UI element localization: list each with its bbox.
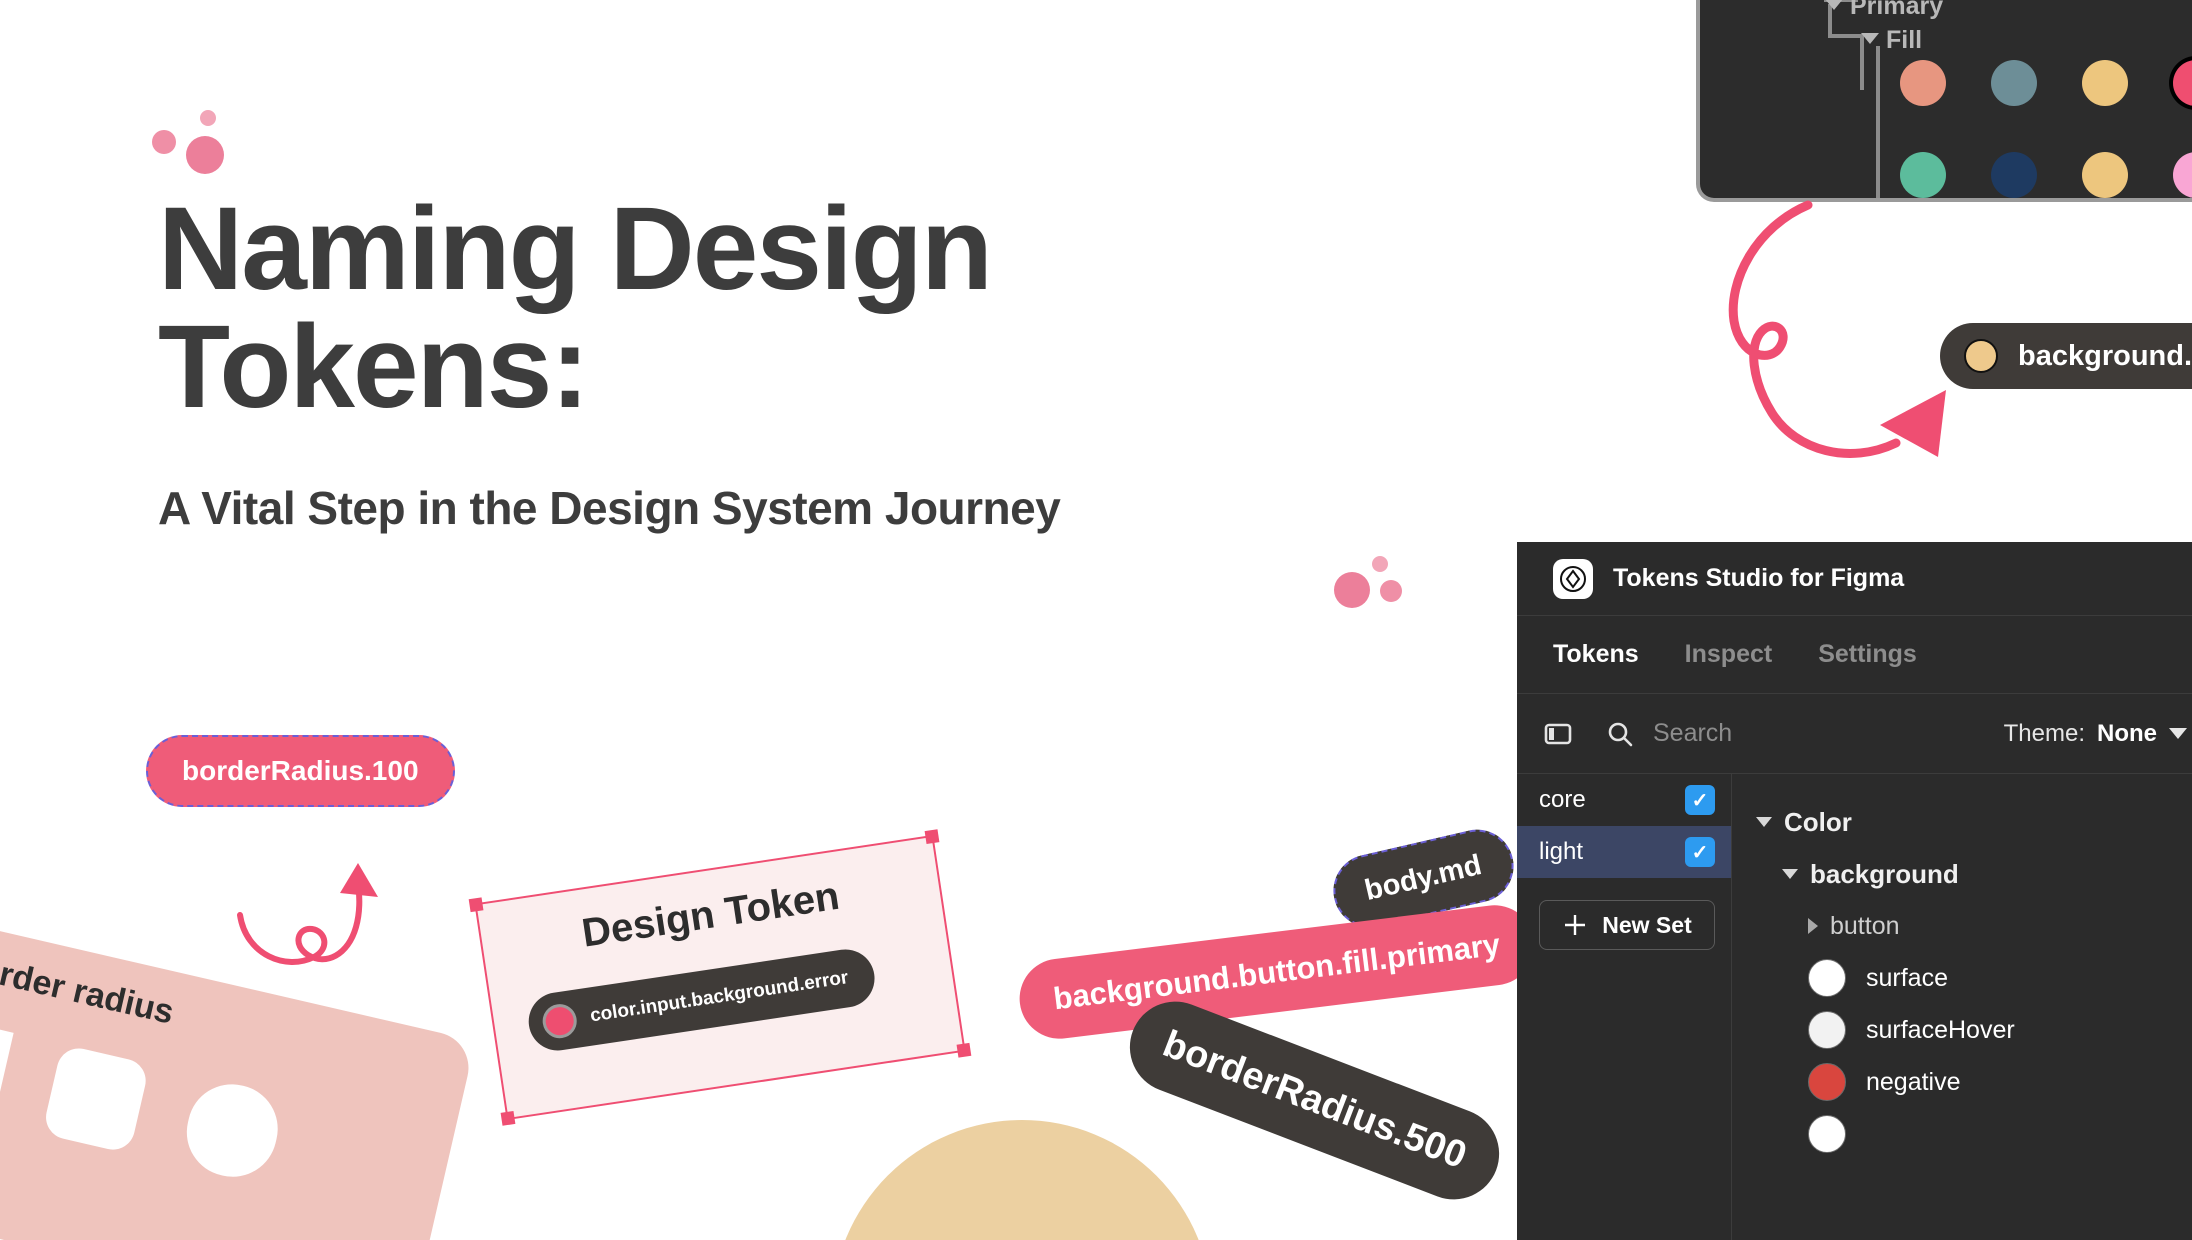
decor-dot [186,136,224,174]
tab-settings[interactable]: Settings [1818,640,1917,669]
token-pill-label: borderRadius.100 [182,755,419,787]
color-swatch-icon [1964,339,1998,373]
fill-swatch[interactable] [1900,60,1946,106]
layer-label-fill[interactable]: Fill [1886,26,1922,55]
split-panel-icon[interactable] [1543,719,1573,749]
tokens-studio-header: Tokens Studio for Figma [1517,542,2192,616]
radius-sample-none [0,1013,14,1123]
chevron-down-icon[interactable] [1756,817,1772,827]
decor-dot [1372,556,1388,572]
radius-sample-large [178,1076,286,1186]
frame-handle-bottom-left[interactable] [501,1111,516,1126]
fill-swatch-selected[interactable] [2173,60,2192,106]
color-swatch-icon [1808,1063,1846,1101]
token-pill-label: borderRadius.500 [1157,1023,1472,1178]
decor-dot [1334,572,1370,608]
chevron-right-icon[interactable] [1808,918,1818,934]
token-set-core[interactable]: core ✓ [1517,774,1731,826]
token-pill-border-radius-500[interactable]: borderRadius.500 [1117,988,1513,1212]
page-title: Naming Design Tokens: [158,190,1158,426]
fill-swatch[interactable] [2082,152,2128,198]
search-icon[interactable] [1605,719,1635,749]
token-leaf-label: surface [1866,964,1948,993]
token-leaf-surface-hover[interactable]: surfaceHover [1808,1004,2192,1056]
token-set-checkbox[interactable]: ✓ [1685,785,1715,815]
chevron-down-icon[interactable] [1861,33,1879,44]
color-swatch-icon [1808,959,1846,997]
decor-dot [1380,580,1402,602]
search-input[interactable]: Search [1653,719,1732,748]
panel-title: Tokens Studio for Figma [1613,564,1904,593]
radius-sample-medium [42,1044,150,1154]
page-subtitle: A Vital Step in the Design System Journe… [158,480,1088,538]
curly-arrow-icon [222,845,402,985]
frame-handle-top-right[interactable] [925,829,940,844]
chevron-down-icon [2169,728,2187,739]
token-leaf-surface[interactable]: surface [1808,952,2192,1004]
fill-swatch-grid [1900,60,2192,198]
plus-icon [1562,912,1588,938]
color-swatch-icon [1808,1011,1846,1049]
slide-canvas: Naming Design Tokens: A Vital Step in th… [0,0,2192,1240]
token-tree: Color background button surface surfaceH [1732,774,2192,1240]
token-set-label: light [1539,838,1583,866]
token-pill-background-button-fill-primary[interactable]: background.button.fill.primary [1015,901,1538,1043]
decor-tan-circle [832,1120,1212,1240]
token-group-color[interactable]: Color [1756,796,2192,848]
new-set-button[interactable]: New Set [1539,900,1715,950]
token-set-checkbox[interactable]: ✓ [1685,837,1715,867]
border-radius-card-label: Border radius [0,945,177,1033]
decor-dot [152,130,176,154]
token-group-label: background [1810,859,1959,890]
tokens-studio-diamond-icon [1553,559,1593,599]
tokens-studio-toolbar: Search Theme: None [1517,694,2192,774]
tab-inspect[interactable]: Inspect [1685,640,1773,669]
theme-selector[interactable]: Theme: None [2004,720,2187,748]
token-pill-label: background.button.fill.primary [1051,927,1502,1018]
layer-label-primary[interactable]: Primary [1850,0,1943,21]
fill-swatch[interactable] [2082,60,2128,106]
token-sets-list: core ✓ light ✓ New Set [1517,774,1732,1240]
token-leaf-label: negative [1866,1068,1961,1097]
color-swatch-icon [540,1002,579,1041]
token-leaf-partial[interactable] [1808,1108,2192,1160]
design-token-title: Design Token [579,874,842,957]
theme-value: None [2097,720,2157,748]
token-leaf-label: surfaceHover [1866,1016,2015,1045]
tokens-studio-body: core ✓ light ✓ New Set [1517,774,2192,1240]
token-pill-label: body.md [1362,849,1485,908]
token-set-label: core [1539,786,1586,814]
border-radius-samples [0,1013,286,1186]
token-leaf-negative[interactable]: negative [1808,1056,2192,1108]
fill-swatch[interactable] [2173,152,2192,198]
tab-tokens[interactable]: Tokens [1553,640,1639,669]
token-pill-border-radius-100[interactable]: borderRadius.100 [146,735,455,807]
token-pill-background-surface[interactable]: background.s [1940,323,2192,389]
theme-label: Theme: [2004,720,2085,748]
token-set-light[interactable]: light ✓ [1517,826,1731,878]
chevron-down-icon[interactable] [1782,869,1798,879]
color-swatch-icon [1808,1115,1846,1153]
token-group-background[interactable]: background [1782,848,2192,900]
token-group-button[interactable]: button [1808,900,2192,952]
frame-handle-top-left[interactable] [469,897,484,912]
new-set-button-label: New Set [1602,912,1691,939]
token-group-label: Color [1784,807,1852,838]
design-token-pill[interactable]: color.input.background.error [525,946,878,1055]
design-token-pill-label: color.input.background.error [589,967,850,1027]
frame-handle-bottom-right[interactable] [957,1043,972,1058]
decor-dot [200,110,216,126]
chevron-down-icon[interactable] [1825,0,1843,10]
tokens-studio-tabbar: Tokens Inspect Settings [1517,616,2192,694]
token-pill-label: background.s [2018,340,2192,373]
figma-layers-panel: Primary Fill [1700,0,2192,198]
hero-block: Naming Design Tokens: A Vital Step in th… [158,190,1158,538]
token-group-label: button [1830,912,1900,941]
tokens-studio-panel: Tokens Studio for Figma Tokens Inspect S… [1517,542,2192,1240]
design-token-frame: Design Token color.input.background.erro… [477,837,964,1118]
fill-swatch[interactable] [1991,60,2037,106]
